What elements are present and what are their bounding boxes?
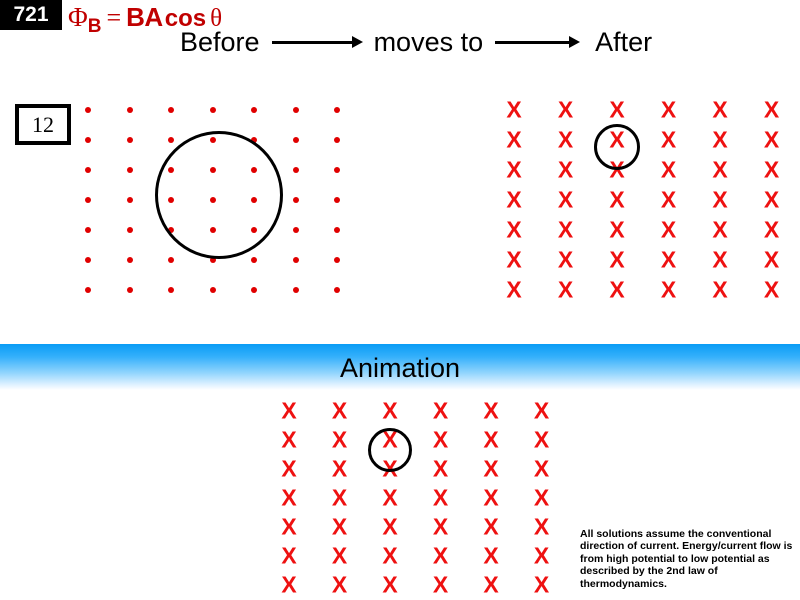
field-dot bbox=[293, 257, 299, 263]
field-dot bbox=[334, 197, 340, 203]
field-cross: X bbox=[332, 458, 347, 481]
field-cross: X bbox=[661, 279, 676, 302]
field-cross: X bbox=[712, 129, 727, 152]
field-cross: X bbox=[506, 219, 521, 242]
after-field-panel: XXXXXXXXXXXXXXXXXXXXXXXXXXXXXXXXXXXXXXXX… bbox=[400, 0, 800, 330]
field-cross: X bbox=[332, 429, 347, 452]
field-cross: X bbox=[382, 516, 397, 539]
field-cross: X bbox=[534, 487, 549, 510]
field-cross: X bbox=[332, 487, 347, 510]
field-dot bbox=[210, 107, 216, 113]
field-dot bbox=[293, 107, 299, 113]
field-cross: X bbox=[712, 219, 727, 242]
field-cross: X bbox=[764, 249, 779, 272]
field-dot bbox=[85, 287, 91, 293]
field-dot bbox=[85, 107, 91, 113]
field-dot bbox=[127, 107, 133, 113]
field-cross: X bbox=[506, 129, 521, 152]
field-dot bbox=[168, 257, 174, 263]
field-cross: X bbox=[382, 574, 397, 597]
field-cross: X bbox=[764, 129, 779, 152]
field-cross: X bbox=[483, 516, 498, 539]
field-cross: X bbox=[433, 400, 448, 423]
field-cross: X bbox=[534, 516, 549, 539]
field-dot bbox=[127, 197, 133, 203]
field-cross: X bbox=[609, 189, 624, 212]
animation-banner: Animation bbox=[0, 344, 800, 390]
field-dot bbox=[127, 167, 133, 173]
field-dot bbox=[334, 287, 340, 293]
field-cross: X bbox=[433, 574, 448, 597]
field-dot bbox=[334, 167, 340, 173]
field-dot bbox=[251, 287, 257, 293]
field-cross: X bbox=[483, 429, 498, 452]
field-cross: X bbox=[764, 279, 779, 302]
field-cross: X bbox=[281, 545, 296, 568]
field-dot bbox=[168, 287, 174, 293]
field-cross: X bbox=[712, 159, 727, 182]
field-cross: X bbox=[433, 429, 448, 452]
field-cross: X bbox=[332, 545, 347, 568]
field-cross: X bbox=[712, 99, 727, 122]
field-cross: X bbox=[764, 189, 779, 212]
field-cross: X bbox=[483, 458, 498, 481]
field-cross: X bbox=[506, 249, 521, 272]
field-cross: X bbox=[764, 99, 779, 122]
field-cross: X bbox=[433, 458, 448, 481]
field-cross: X bbox=[534, 400, 549, 423]
field-dot bbox=[127, 257, 133, 263]
field-dot bbox=[210, 287, 216, 293]
field-cross: X bbox=[712, 189, 727, 212]
slide-canvas: 721 ΦB=BAcosθ Before moves to After 12 X… bbox=[0, 0, 800, 600]
field-cross: X bbox=[433, 516, 448, 539]
field-cross: X bbox=[332, 574, 347, 597]
field-cross: X bbox=[764, 159, 779, 182]
field-cross: X bbox=[483, 400, 498, 423]
field-dot bbox=[85, 167, 91, 173]
field-cross: X bbox=[534, 545, 549, 568]
field-cross: X bbox=[382, 400, 397, 423]
field-dot bbox=[85, 137, 91, 143]
field-dot bbox=[334, 107, 340, 113]
animation-banner-label: Animation bbox=[0, 344, 800, 390]
field-cross: X bbox=[661, 189, 676, 212]
field-cross: X bbox=[558, 129, 573, 152]
field-dot bbox=[85, 257, 91, 263]
field-cross: X bbox=[558, 189, 573, 212]
field-cross: X bbox=[281, 487, 296, 510]
before-field-panel bbox=[0, 0, 400, 330]
field-cross: X bbox=[332, 400, 347, 423]
field-cross: X bbox=[281, 458, 296, 481]
field-dot bbox=[168, 107, 174, 113]
field-cross: X bbox=[332, 516, 347, 539]
field-cross: X bbox=[382, 545, 397, 568]
field-cross: X bbox=[483, 574, 498, 597]
field-cross: X bbox=[558, 159, 573, 182]
field-cross: X bbox=[483, 545, 498, 568]
field-cross: X bbox=[712, 249, 727, 272]
field-cross: X bbox=[609, 279, 624, 302]
field-dot bbox=[251, 107, 257, 113]
conducting-loop bbox=[594, 124, 640, 170]
field-cross: X bbox=[506, 99, 521, 122]
field-dot bbox=[251, 257, 257, 263]
field-cross: X bbox=[483, 487, 498, 510]
field-cross: X bbox=[764, 219, 779, 242]
field-dot bbox=[293, 227, 299, 233]
field-dot bbox=[293, 197, 299, 203]
field-cross: X bbox=[281, 574, 296, 597]
field-cross: X bbox=[534, 458, 549, 481]
field-cross: X bbox=[661, 249, 676, 272]
footnote-text: All solutions assume the conventional di… bbox=[580, 528, 794, 590]
field-cross: X bbox=[558, 279, 573, 302]
field-cross: X bbox=[382, 487, 397, 510]
field-cross: X bbox=[661, 129, 676, 152]
conducting-loop bbox=[155, 131, 283, 259]
field-cross: X bbox=[609, 219, 624, 242]
field-cross: X bbox=[433, 487, 448, 510]
field-cross: X bbox=[609, 99, 624, 122]
field-cross: X bbox=[281, 429, 296, 452]
field-dot bbox=[334, 227, 340, 233]
field-cross: X bbox=[534, 429, 549, 452]
field-cross: X bbox=[433, 545, 448, 568]
field-cross: X bbox=[281, 516, 296, 539]
field-dot bbox=[293, 137, 299, 143]
field-cross: X bbox=[506, 279, 521, 302]
field-dot bbox=[85, 227, 91, 233]
field-cross: X bbox=[506, 189, 521, 212]
field-dot bbox=[85, 197, 91, 203]
field-dot bbox=[127, 287, 133, 293]
field-cross: X bbox=[281, 400, 296, 423]
field-dot bbox=[293, 167, 299, 173]
field-cross: X bbox=[609, 249, 624, 272]
field-cross: X bbox=[661, 99, 676, 122]
field-cross: X bbox=[558, 249, 573, 272]
field-cross: X bbox=[558, 219, 573, 242]
conducting-loop bbox=[368, 428, 412, 472]
field-dot bbox=[334, 137, 340, 143]
field-cross: X bbox=[661, 159, 676, 182]
field-cross: X bbox=[506, 159, 521, 182]
field-cross: X bbox=[712, 279, 727, 302]
field-dot bbox=[168, 137, 174, 143]
field-cross: X bbox=[534, 574, 549, 597]
field-dot bbox=[127, 137, 133, 143]
field-cross: X bbox=[661, 219, 676, 242]
field-cross: X bbox=[558, 99, 573, 122]
field-dot bbox=[293, 287, 299, 293]
field-dot bbox=[334, 257, 340, 263]
field-dot bbox=[127, 227, 133, 233]
